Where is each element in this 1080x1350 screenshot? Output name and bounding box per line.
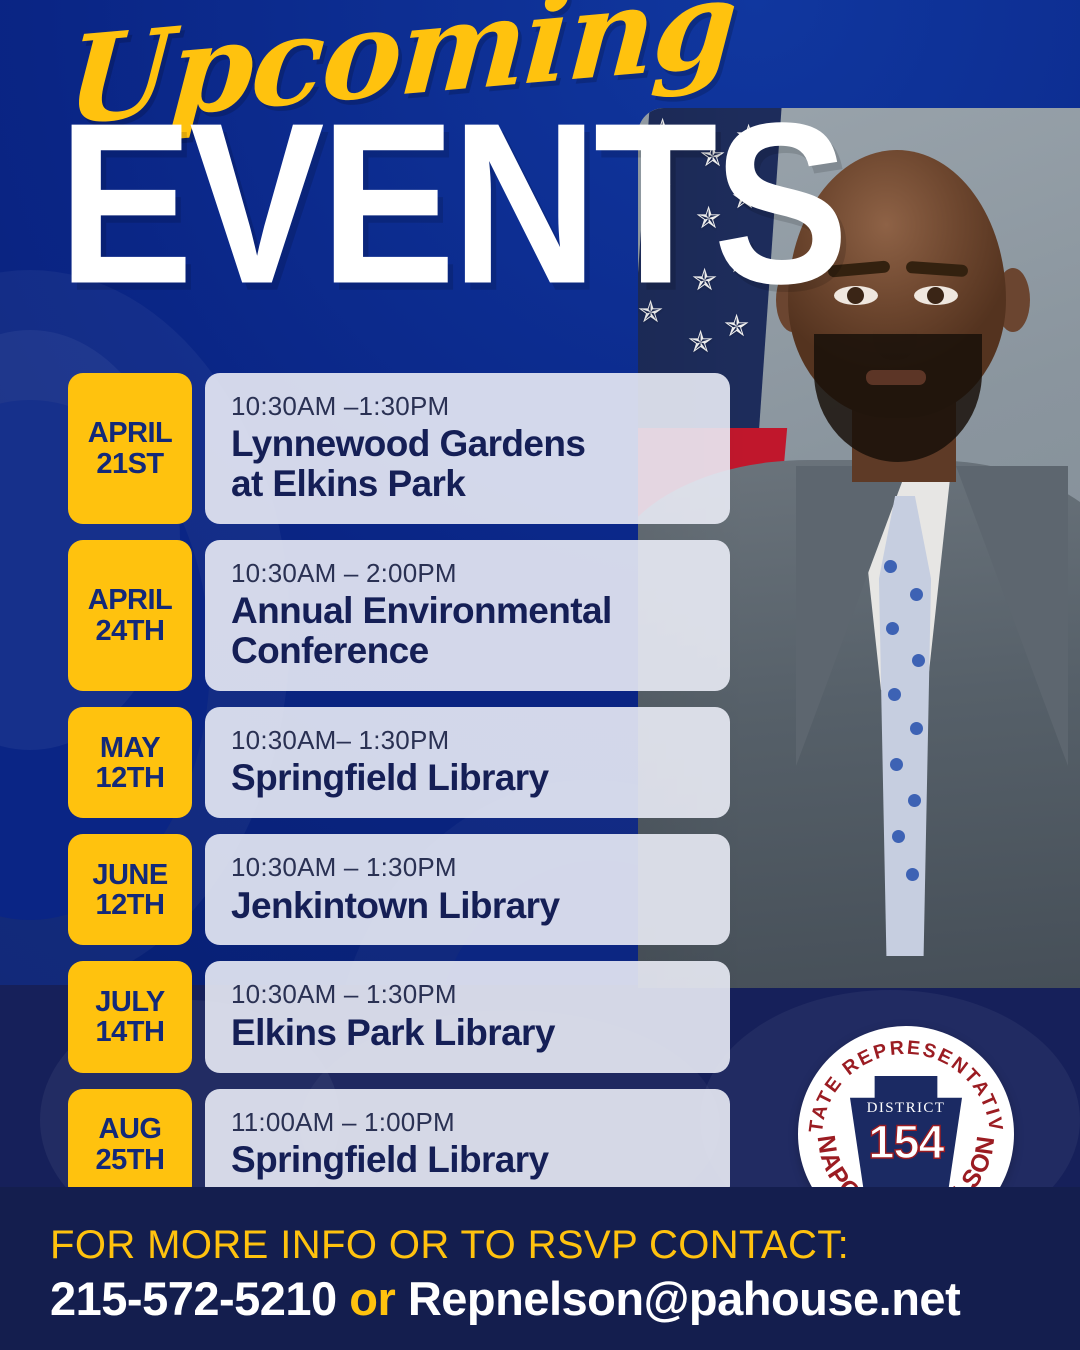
event-day: 12TH: [96, 763, 165, 793]
event-card: 10:30AM – 2:00PM Annual Environmental Co…: [205, 540, 730, 691]
event-title-line: Springfield Library: [231, 1140, 704, 1180]
event-time: 10:30AM – 2:00PM: [231, 558, 704, 589]
event-title: Jenkintown Library: [231, 886, 704, 926]
event-month: MAY: [100, 733, 160, 763]
event-title: Springfield Library: [231, 758, 704, 798]
event-title: Lynnewood Gardens at Elkins Park: [231, 424, 704, 504]
conjunction: or: [349, 1272, 395, 1325]
contact-details: 215-572-5210 or Repnelson@pahouse.net: [50, 1271, 960, 1326]
event-title-line: Conference: [231, 631, 704, 671]
event-title: Elkins Park Library: [231, 1013, 704, 1053]
event-row[interactable]: JULY 14TH 10:30AM – 1:30PM Elkins Park L…: [68, 961, 730, 1072]
events-list: APRIL 21ST 10:30AM –1:30PM Lynnewood Gar…: [68, 373, 730, 1201]
event-date-chip: AUG 25TH: [68, 1089, 192, 1201]
event-card: 11:00AM – 1:00PM Springfield Library: [205, 1089, 730, 1201]
district-number: 154: [868, 1118, 943, 1165]
headline-main-word: EVENTS: [58, 108, 728, 301]
event-time: 10:30AM – 1:30PM: [231, 979, 704, 1010]
event-time: 10:30AM – 1:30PM: [231, 852, 704, 883]
event-title-line: Elkins Park Library: [231, 1013, 704, 1053]
event-title-line: Springfield Library: [231, 758, 704, 798]
event-card: 10:30AM – 1:30PM Elkins Park Library: [205, 961, 730, 1072]
event-row[interactable]: JUNE 12TH 10:30AM – 1:30PM Jenkintown Li…: [68, 834, 730, 945]
event-card: 10:30AM –1:30PM Lynnewood Gardens at Elk…: [205, 373, 730, 524]
event-row[interactable]: APRIL 21ST 10:30AM –1:30PM Lynnewood Gar…: [68, 373, 730, 524]
event-month: AUG: [99, 1114, 162, 1144]
email-address[interactable]: Repnelson@pahouse.net: [408, 1272, 960, 1325]
event-month: JULY: [95, 987, 164, 1017]
event-title: Springfield Library: [231, 1140, 704, 1180]
event-day: 12TH: [96, 890, 165, 920]
event-month: JUNE: [92, 860, 167, 890]
event-month: APRIL: [88, 418, 173, 448]
event-date-chip: JULY 14TH: [68, 961, 192, 1072]
event-day: 24TH: [96, 616, 165, 646]
event-time: 10:30AM– 1:30PM: [231, 725, 704, 756]
event-row[interactable]: MAY 12TH 10:30AM– 1:30PM Springfield Lib…: [68, 707, 730, 818]
contact-footer: FOR MORE INFO OR TO RSVP CONTACT: 215-57…: [0, 1187, 1080, 1350]
event-time: 10:30AM –1:30PM: [231, 391, 704, 422]
event-title-line: Annual Environmental: [231, 591, 704, 631]
event-time: 11:00AM – 1:00PM: [231, 1107, 704, 1138]
event-row[interactable]: AUG 25TH 11:00AM – 1:00PM Springfield Li…: [68, 1089, 730, 1201]
event-date-chip: APRIL 24TH: [68, 540, 192, 691]
event-date-chip: MAY 12TH: [68, 707, 192, 818]
phone-number[interactable]: 215-572-5210: [50, 1272, 337, 1325]
rsvp-prompt: FOR MORE INFO OR TO RSVP CONTACT:: [50, 1223, 849, 1268]
event-day: 25TH: [96, 1145, 165, 1175]
event-date-chip: JUNE 12TH: [68, 834, 192, 945]
event-title-line: Jenkintown Library: [231, 886, 704, 926]
event-title-line: at Elkins Park: [231, 464, 704, 504]
event-card: 10:30AM– 1:30PM Springfield Library: [205, 707, 730, 818]
upcoming-events-flyer: ✯ ✯ ✯ ✯ ✯ ✯ ✯ ✯ ✯ ✯ ✯ ✯: [0, 0, 1080, 1350]
event-title-line: Lynnewood Gardens: [231, 424, 704, 464]
event-month: APRIL: [88, 585, 173, 615]
event-row[interactable]: APRIL 24TH 10:30AM – 2:00PM Annual Envir…: [68, 540, 730, 691]
event-day: 14TH: [96, 1017, 165, 1047]
event-title: Annual Environmental Conference: [231, 591, 704, 671]
event-card: 10:30AM – 1:30PM Jenkintown Library: [205, 834, 730, 945]
event-day: 21ST: [96, 449, 163, 479]
event-date-chip: APRIL 21ST: [68, 373, 192, 524]
page-title: Upcoming EVENTS: [58, 22, 678, 266]
